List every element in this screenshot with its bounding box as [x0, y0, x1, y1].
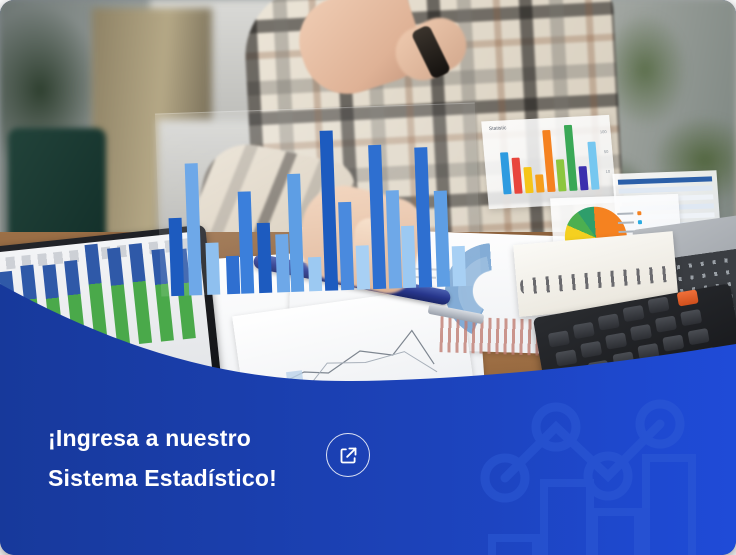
headline-line-1: ¡Ingresa a nuestro [48, 418, 368, 458]
statistics-banner-card: 56,789 13,678 Statistic 100 [0, 0, 736, 555]
external-link-button[interactable] [326, 433, 370, 477]
external-link-icon [338, 445, 359, 466]
cta-text-block: ¡Ingresa a nuestro Sistema Estadístico! [48, 418, 368, 498]
headline-line-2: Sistema Estadístico! [48, 458, 368, 498]
